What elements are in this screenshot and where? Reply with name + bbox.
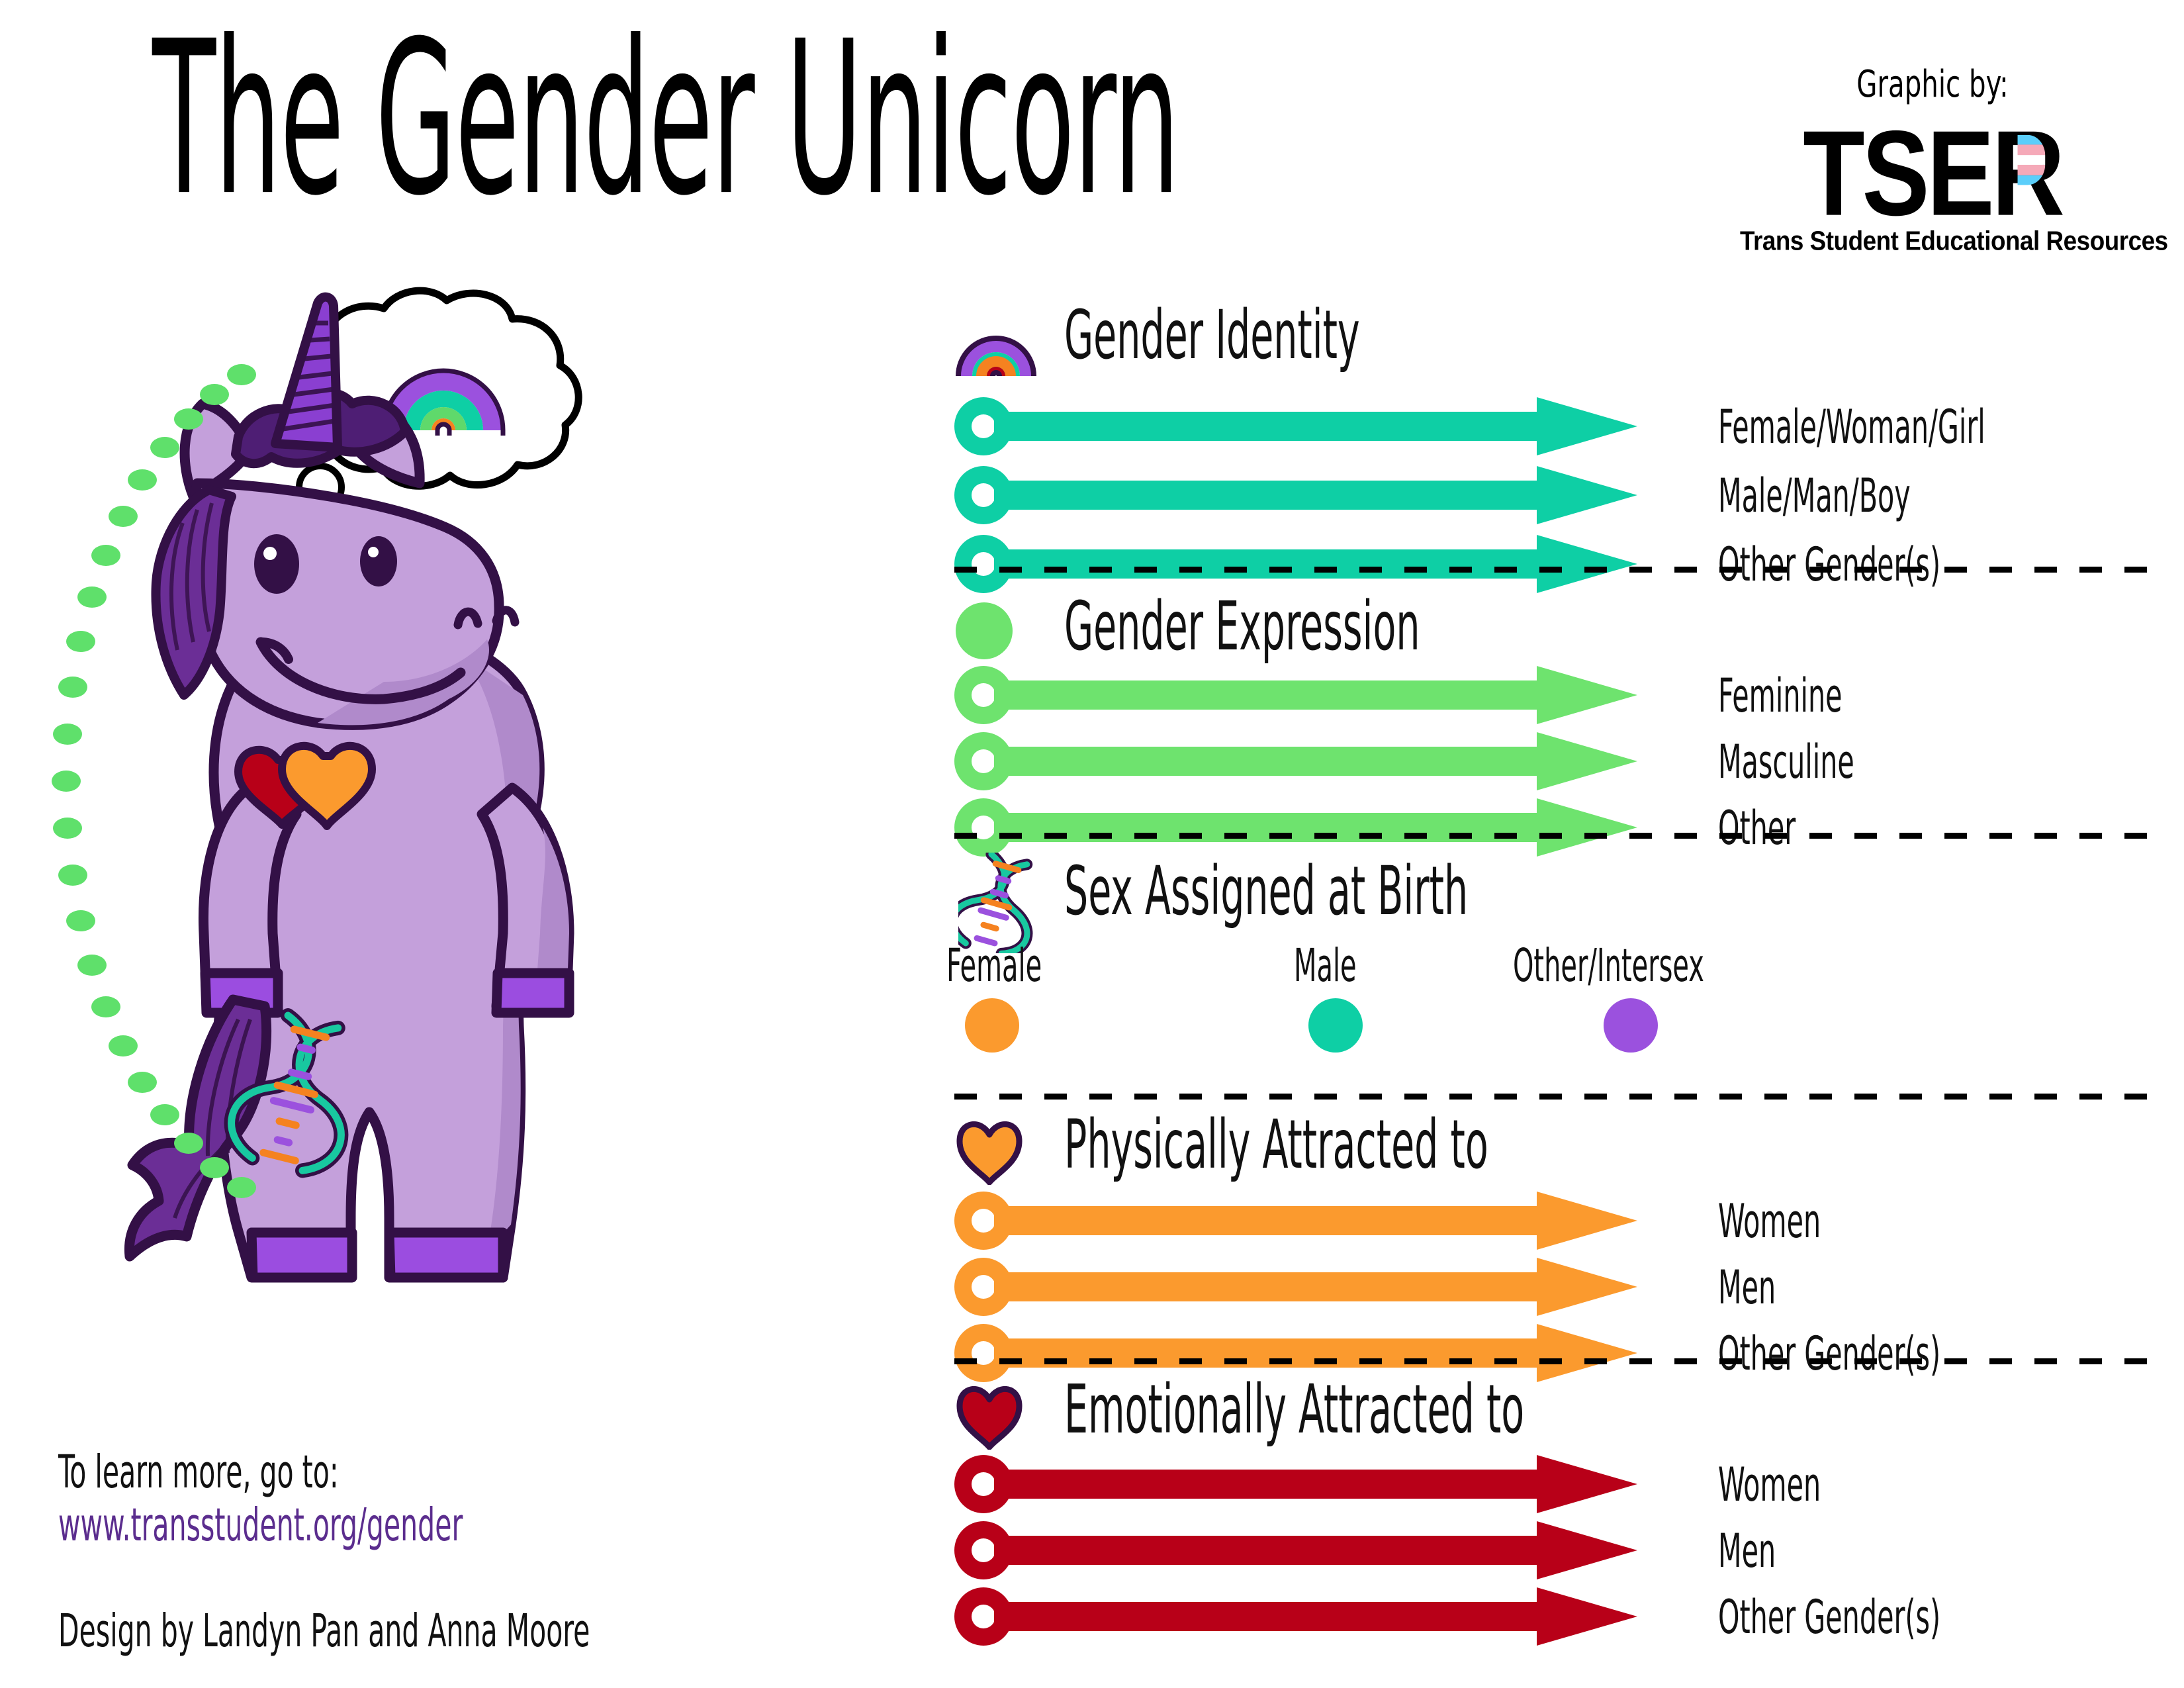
- section-title-sex-assigned-at-birth: Sex Assigned at Birth: [1064, 857, 1468, 925]
- arrow-bar: [994, 481, 1537, 510]
- design-credit-label: Design by Landyn Pan and Anna Moore: [58, 1609, 590, 1654]
- arrow-head-icon: [1537, 1258, 1637, 1316]
- section-title-physically-attracted-to: Physically Attracted to: [1064, 1111, 1488, 1178]
- green-dot: [174, 408, 203, 430]
- website-url-link[interactable]: www.transstudent.org/gender: [58, 1503, 463, 1548]
- arrow-bar: [994, 747, 1537, 776]
- arrow-head-icon: [1537, 535, 1637, 593]
- arrow-head-icon: [1537, 1324, 1637, 1382]
- green-dot: [150, 1104, 179, 1125]
- saab-option-label: Other/Intersex: [1513, 943, 1704, 988]
- saab-option-label: Male: [1294, 943, 1357, 988]
- tser-wordmark: TSER: [1803, 110, 2062, 237]
- arrow-head-icon: [1537, 1192, 1637, 1250]
- orange-heart-icon: [956, 1119, 1023, 1185]
- section-divider: [954, 1094, 2152, 1100]
- arrow-head-icon: [1537, 397, 1637, 455]
- arrow-bar: [994, 1272, 1537, 1301]
- saab-option-dot-male: [1308, 998, 1363, 1053]
- green-circle-icon: [956, 602, 1013, 659]
- arrow-label: Other: [1718, 805, 1796, 852]
- arrow-label: Masculine: [1718, 739, 1854, 786]
- green-dot: [77, 955, 107, 976]
- arrow-bar: [994, 412, 1537, 441]
- section-title-gender-identity: Gender Identity: [1064, 301, 1360, 369]
- learn-more-label: To learn more, go to:: [58, 1450, 339, 1495]
- arrow-label: Feminine: [1718, 673, 1843, 720]
- section-title-emotionally-attracted-to: Emotionally Attracted to: [1064, 1376, 1524, 1443]
- saab-option-label: Female: [946, 943, 1042, 988]
- dna-icon: [958, 853, 1038, 953]
- dark-red-heart-icon: [956, 1383, 1023, 1450]
- trans-flag-icon: [2018, 135, 2046, 185]
- arrow-head-icon: [1537, 732, 1637, 790]
- green-dot: [58, 865, 87, 886]
- tser-tagline: Trans Student Educational Resources: [1740, 226, 2125, 257]
- rainbow-icon: [953, 312, 1039, 381]
- arrow-head-icon: [1537, 1587, 1637, 1646]
- green-dot: [58, 677, 87, 698]
- green-dot: [66, 910, 95, 931]
- arrow-label: Male/Man/Boy: [1718, 473, 1911, 520]
- arrow-label: Men: [1718, 1264, 1776, 1311]
- saab-option-dot-female: [965, 998, 1019, 1053]
- arrow-bar: [994, 1536, 1537, 1565]
- page-title: The Gender Unicorn: [152, 13, 1179, 225]
- arrow-label: Men: [1718, 1528, 1776, 1575]
- green-dot: [91, 996, 120, 1017]
- section-divider: [954, 833, 2152, 839]
- green-dot: [52, 771, 81, 792]
- arrow-label: Women: [1718, 1462, 1821, 1509]
- green-dot: [150, 437, 179, 458]
- green-dot: [66, 631, 95, 652]
- arrow-bar: [994, 549, 1537, 579]
- arrow-head-icon: [1537, 466, 1637, 524]
- tser-credit-block: Graphic by: TSER Trans Student Education…: [1734, 63, 2131, 255]
- green-dot: [109, 506, 138, 527]
- section-divider: [954, 567, 2152, 573]
- arrow-label: Other Gender(s): [1718, 1594, 1940, 1641]
- arrow-label: Female/Woman/Girl: [1718, 404, 1985, 451]
- green-dot: [227, 1177, 256, 1198]
- graphic-by-label: Graphic by:: [1774, 63, 2091, 106]
- green-dot: [128, 1072, 157, 1093]
- unicorn-horn: [275, 297, 338, 447]
- section-divider: [954, 1358, 2152, 1364]
- arrow-head-icon: [1537, 798, 1637, 857]
- green-dot: [174, 1133, 203, 1154]
- arrow-label: Women: [1718, 1198, 1821, 1245]
- green-dot: [200, 1157, 229, 1178]
- section-title-gender-expression: Gender Expression: [1064, 592, 1420, 660]
- arrow-bar: [994, 1206, 1537, 1235]
- arrow-label: Other Gender(s): [1718, 541, 1940, 588]
- saab-option-dot-other-intersex: [1604, 998, 1658, 1053]
- arrow-bar: [994, 1470, 1537, 1499]
- arrow-label: Other Gender(s): [1718, 1331, 1940, 1378]
- arrow-bar: [994, 1602, 1537, 1631]
- green-dot: [53, 724, 82, 745]
- green-dot: [109, 1035, 138, 1056]
- arrow-head-icon: [1537, 1455, 1637, 1513]
- arrow-head-icon: [1537, 666, 1637, 724]
- arrow-bar: [994, 680, 1537, 710]
- arrow-head-icon: [1537, 1521, 1637, 1579]
